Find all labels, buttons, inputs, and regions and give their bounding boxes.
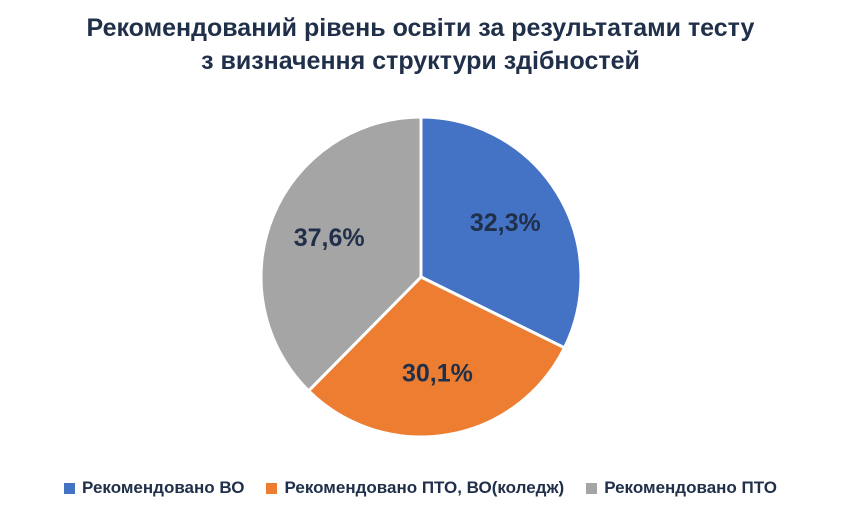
chart-container: Рекомендований рівень освіти за результа… xyxy=(0,0,841,524)
legend-label-recommended-pto: Рекомендовано ПТО xyxy=(604,478,777,498)
pie-data-label: 37,6% xyxy=(294,224,365,252)
legend-swatch-orange-icon xyxy=(266,483,277,494)
plot-area: 32,3%30,1%37,6% xyxy=(0,96,841,466)
chart-title-line-1: Рекомендований рівень освіти за результа… xyxy=(0,12,841,45)
legend-item-recommended-pto[interactable]: Рекомендовано ПТО xyxy=(586,478,777,498)
legend-label-recommended-vo: Рекомендовано ВО xyxy=(82,478,244,498)
legend-item-recommended-pto-vo-college[interactable]: Рекомендовано ПТО, ВО(коледж) xyxy=(266,478,564,498)
pie-data-label: 32,3% xyxy=(470,209,541,237)
legend-swatch-gray-icon xyxy=(586,483,597,494)
chart-title-line-2: з визначення структури здібностей xyxy=(0,45,841,78)
chart-title: Рекомендований рівень освіти за результа… xyxy=(0,12,841,78)
pie-data-label: 30,1% xyxy=(402,359,473,387)
pie-slice-group xyxy=(261,117,581,437)
legend-label-recommended-pto-vo-college: Рекомендовано ПТО, ВО(коледж) xyxy=(284,478,564,498)
legend-swatch-blue-icon xyxy=(64,483,75,494)
pie-chart: 32,3%30,1%37,6% xyxy=(0,96,841,466)
legend-item-recommended-vo[interactable]: Рекомендовано ВО xyxy=(64,478,244,498)
chart-legend: Рекомендовано ВО Рекомендовано ПТО, ВО(к… xyxy=(0,478,841,498)
